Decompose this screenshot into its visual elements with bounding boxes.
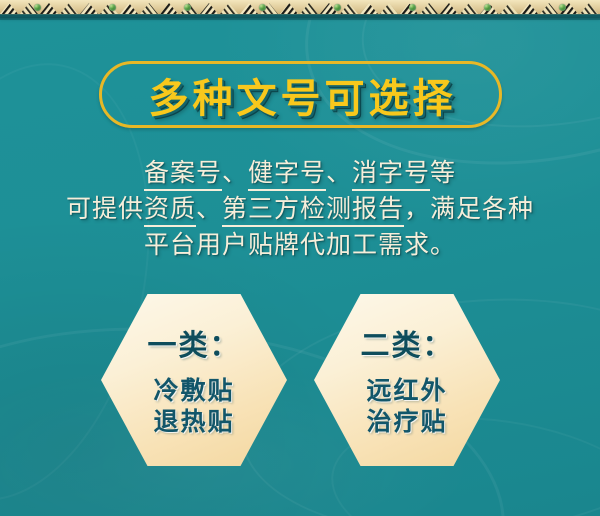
body-segment: 等	[430, 160, 456, 187]
green-gem-icon	[484, 4, 491, 11]
body-segment-underlined: 资质	[144, 196, 196, 227]
promo-poster: 多种文号可选择 备案号、健字号、消字号等可提供资质、第三方检测报告，满足各种平台…	[0, 0, 600, 516]
body-segment: 可提供	[66, 196, 144, 223]
category-item: 退热贴	[153, 407, 234, 438]
body-line: 备案号、健字号、消字号等	[0, 156, 600, 192]
body-segment: 、	[222, 160, 248, 187]
page-title: 多种文号可选择	[102, 64, 499, 125]
category-item: 治疗贴	[366, 407, 447, 438]
green-gem-icon	[559, 4, 566, 11]
category-item: 冷敷贴	[153, 376, 234, 407]
green-gem-icon	[184, 4, 191, 11]
category-item: 远红外	[366, 376, 447, 407]
body-segment: ，满足各种	[404, 196, 534, 223]
green-gem-icon	[409, 4, 416, 11]
body-segment-underlined: 消字号	[352, 160, 430, 191]
body-segment: 、	[196, 196, 222, 223]
green-gem-icon	[109, 4, 116, 11]
body-segment-underlined: 第三方检测报告	[222, 196, 404, 227]
headline-pill-frame: 多种文号可选择	[99, 61, 502, 128]
body-paragraph: 备案号、健字号、消字号等可提供资质、第三方检测报告，满足各种平台用户贴牌代加工需…	[0, 156, 600, 264]
ornamental-top-border	[0, 0, 600, 17]
category-title: 二类：	[360, 322, 453, 364]
border-underline	[0, 17, 600, 20]
gem-row	[0, 0, 600, 17]
body-segment-underlined: 备案号	[144, 160, 222, 191]
category-title: 一类：	[147, 322, 240, 364]
green-gem-icon	[334, 4, 341, 11]
body-line: 平台用户贴牌代加工需求。	[0, 228, 600, 264]
green-gem-icon	[259, 4, 266, 11]
green-gem-icon	[34, 4, 41, 11]
body-segment: 、	[326, 160, 352, 187]
body-segment-underlined: 健字号	[248, 160, 326, 191]
body-segment: 平台用户贴牌代加工需求。	[144, 232, 456, 259]
body-line: 可提供资质、第三方检测报告，满足各种	[0, 192, 600, 228]
